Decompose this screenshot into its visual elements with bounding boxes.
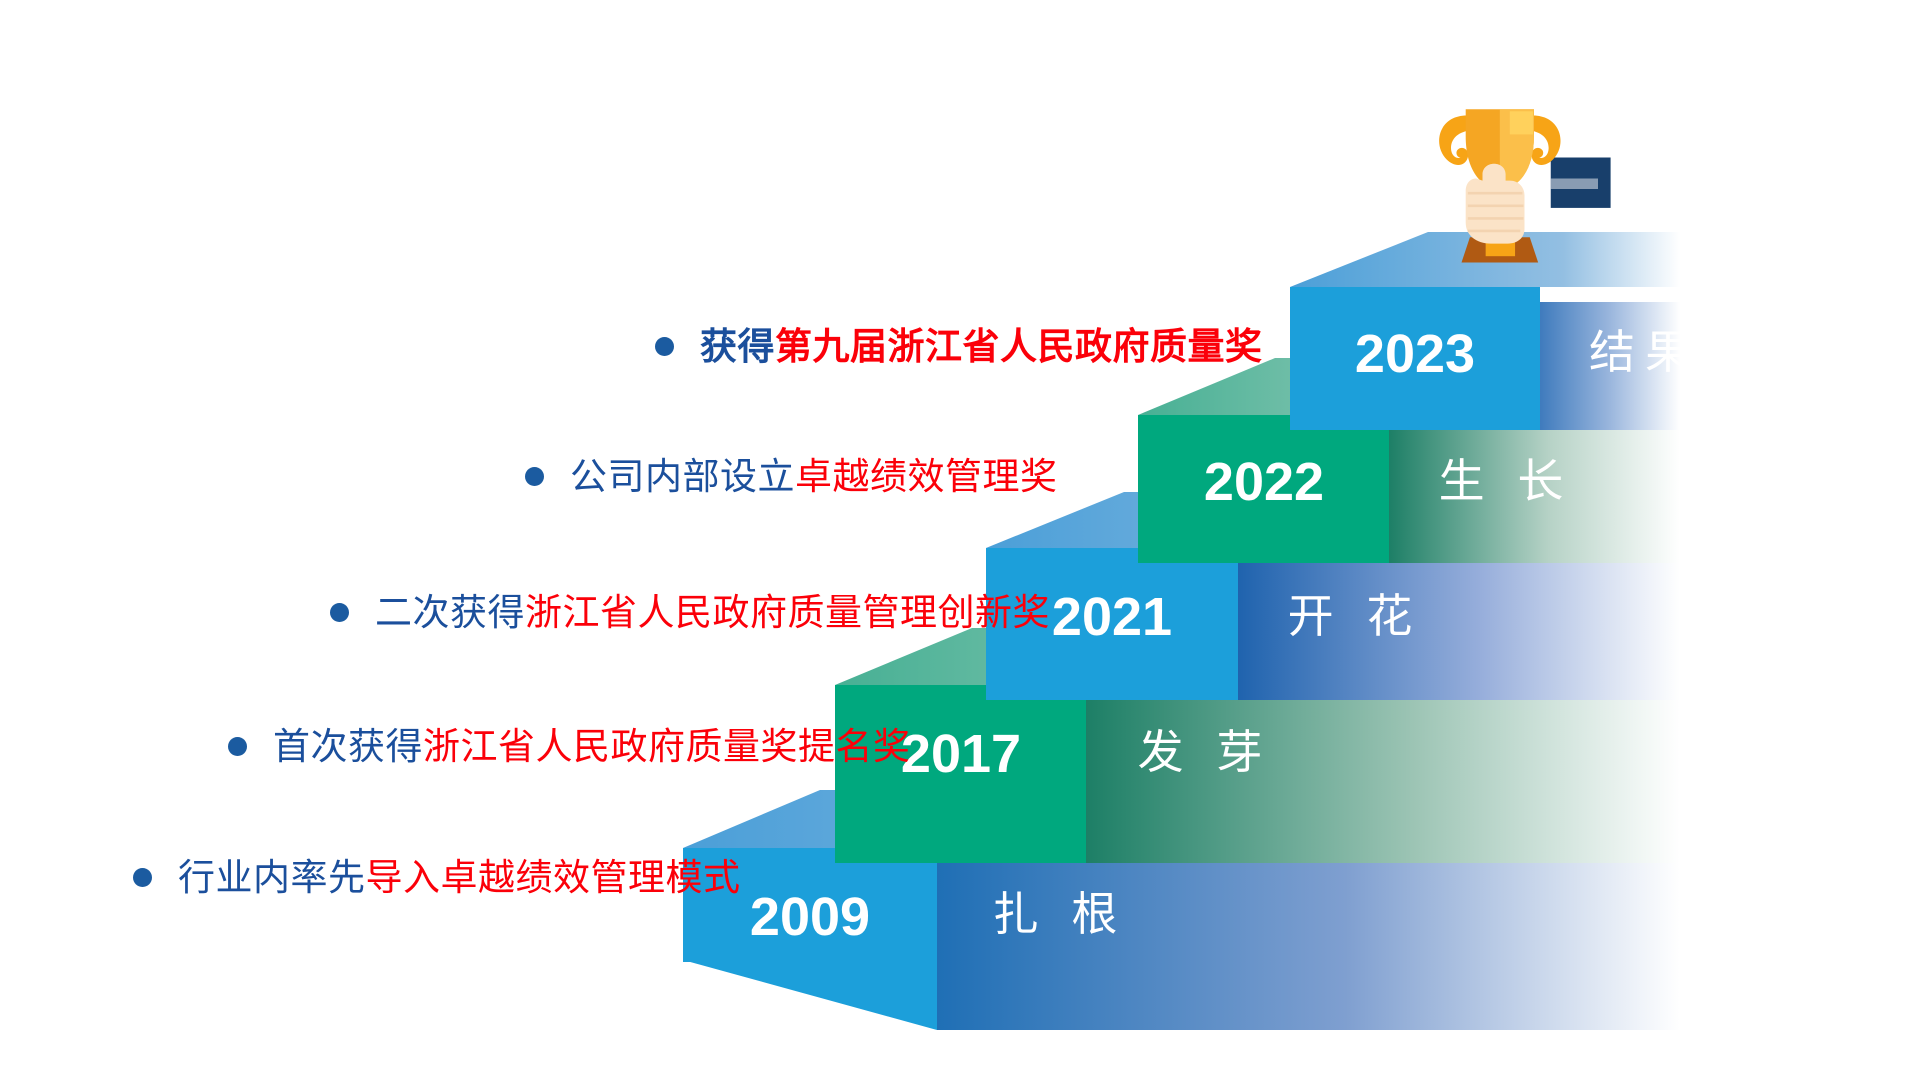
step-2017-year: 2017 [901,724,1021,784]
step-2023-stage: 结果 [1589,326,1701,378]
bullet-point-icon [525,467,544,486]
bullet-text-2023-blue: 获得 [700,326,775,367]
bullet-text-2017-blue: 首次获得 [273,726,423,767]
step-2022-stage: 生 长 [1439,455,1574,507]
bullet-row-2023[interactable]: 获得第九届浙江省人民政府质量奖 [655,322,1263,370]
step-2009-year: 2009 [750,887,870,947]
bullet-point-icon [655,337,674,356]
bullet-text-2009-blue: 行业内率先 [178,857,366,898]
step-2009-stage: 扎 根 [993,888,1128,940]
bullet-text-2017: 首次获得浙江省人民政府质量奖提名奖 [273,728,911,765]
bullet-row-2017[interactable]: 首次获得浙江省人民政府质量奖提名奖 [228,722,911,770]
bullet-text-2009: 行业内率先导入卓越绩效管理模式 [178,859,741,896]
step-2021-year: 2021 [1052,587,1172,647]
staircase-diagram: 2009 扎 根 2017 发 芽 2021 开 花 2022 生 长 [0,0,1920,1080]
bullet-row-2021[interactable]: 二次获得浙江省人民政府质量管理创新奖 [330,588,1050,636]
bullet-text-2023-red: 第九届浙江省人民政府质量奖 [775,326,1263,367]
bullet-text-2017-red: 浙江省人民政府质量奖提名奖 [423,726,911,767]
bullet-point-icon [133,868,152,887]
bullet-text-2021-blue: 二次获得 [375,592,525,633]
bullet-text-2022-red: 卓越绩效管理奖 [795,456,1058,497]
bullet-row-2009[interactable]: 行业内率先导入卓越绩效管理模式 [133,853,741,901]
bullet-text-2022: 公司内部设立卓越绩效管理奖 [570,458,1058,495]
bullet-point-icon [228,737,247,756]
infographic-canvas: 2009 扎 根 2017 发 芽 2021 开 花 2022 生 长 [0,0,1920,1080]
step-2017-side-face [1086,700,1680,863]
bullet-text-2021-red: 浙江省人民政府质量管理创新奖 [525,592,1050,633]
bullet-row-2022[interactable]: 公司内部设立卓越绩效管理奖 [525,452,1058,500]
bullet-point-icon [330,603,349,622]
bullet-text-2022-blue: 公司内部设立 [570,456,795,497]
step-2023-year: 2023 [1355,324,1475,384]
bullet-text-2021: 二次获得浙江省人民政府质量管理创新奖 [375,594,1050,631]
step-2022-year: 2022 [1204,452,1324,512]
step-2021-stage: 开 花 [1288,590,1423,642]
step-2017-stage: 发 芽 [1138,726,1273,778]
bullet-text-2009-red: 导入卓越绩效管理模式 [366,857,741,898]
bullet-text-2023: 获得第九届浙江省人民政府质量奖 [700,328,1263,365]
